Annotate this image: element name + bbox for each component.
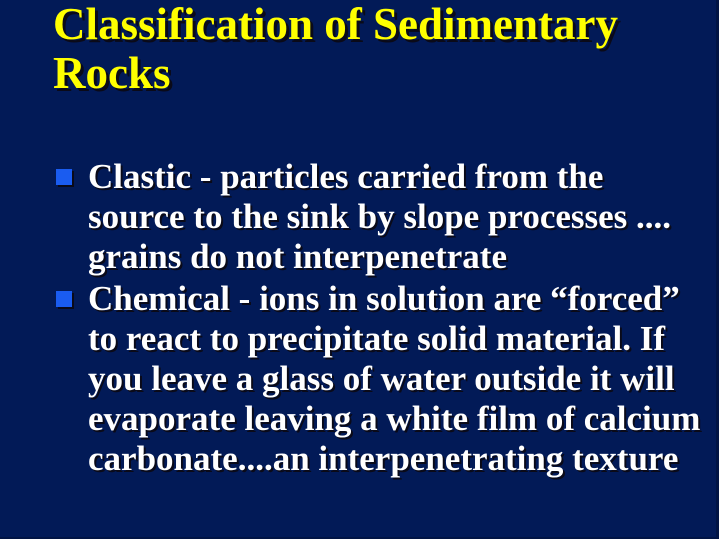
list-item-text: Chemical - ions in solution are “forced”… [88,279,700,478]
list-item: Clastic - particles carried from the sou… [53,157,703,277]
list-item-text: Clastic - particles carried from the sou… [88,157,671,276]
page-title: Classification of Sedimentary Rocks [53,0,673,98]
bullet-list: Clastic - particles carried from the sou… [53,157,703,479]
list-item: Chemical - ions in solution are “forced”… [53,279,703,479]
square-bullet-icon [56,169,72,185]
square-bullet-icon [56,291,72,307]
slide-canvas: Classification of Sedimentary Rocks Clas… [0,0,719,539]
